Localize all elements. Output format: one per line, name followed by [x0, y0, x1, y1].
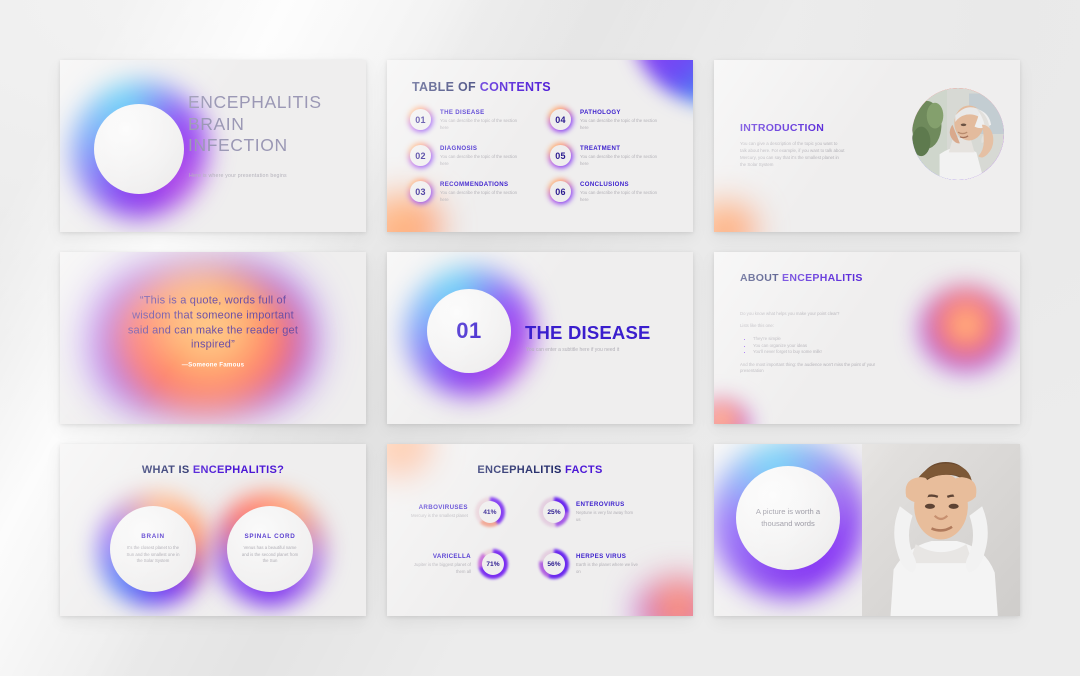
fact-arboviruses-desc: Mercury is the smallest planet [411, 513, 468, 519]
fact-arboviruses-percent: 41% [483, 509, 496, 516]
title-line-1: ENCEPHALITIS [188, 92, 322, 114]
title-slide-subtitle: Here is where your presentation begins [189, 173, 287, 179]
elderly-man-photo-illustration [912, 88, 1004, 180]
title-line-3: INFECTION [188, 135, 322, 157]
fact-varicella-percent: 71% [486, 561, 499, 568]
about-heading-part1: ABOUT [740, 272, 782, 284]
fact-enterovirus[interactable]: 25% ENTEROVIRUS Neptune is very far away… [539, 497, 638, 527]
toc-heading-part1: TABLE OF [412, 80, 480, 94]
card-brain-title: BRAIN [141, 533, 164, 540]
toc-heading: TABLE OF CONTENTS [412, 80, 551, 94]
toc-number-05: 05 [555, 151, 565, 161]
facts-heading-part1: ENCEPHALITIS [477, 464, 565, 476]
introduction-photo-circle [912, 88, 1004, 180]
toc-number-badge-02: 02 [408, 143, 433, 168]
toc-heading-part2: CONTENTS [480, 80, 551, 94]
introduction-body: You can give a description of the topic … [740, 140, 845, 169]
title-line-2: BRAIN [188, 114, 322, 136]
toc-desc-06: You can describe the topic of the sectio… [580, 190, 658, 203]
decor-blob-warm-bottomleft [714, 202, 760, 232]
toc-item-06[interactable]: 06 CONCLUSIONSYou can describe the topic… [548, 179, 674, 204]
slide-table-of-contents[interactable]: TABLE OF CONTENTS 01 THE DISEASEYou can … [387, 60, 693, 232]
man-headache-photo-illustration [862, 444, 1020, 616]
slide-introduction[interactable]: INTRODUCTION You can give a description … [714, 60, 1020, 232]
slide-what-is-encephalitis[interactable]: WHAT IS ENCEPHALITIS? BRAIN It's the clo… [60, 444, 366, 616]
about-bullet-3: You'll never forget to buy some milk! [753, 349, 892, 356]
section-heading: THE DISEASE [525, 322, 651, 344]
toc-number-badge-04: 04 [548, 107, 573, 132]
toc-number-badge-06: 06 [548, 179, 573, 204]
toc-desc-04: You can describe the topic of the sectio… [580, 118, 658, 131]
toc-number-badge-05: 05 [548, 143, 573, 168]
toc-desc-03: You can describe the topic of the sectio… [440, 190, 518, 203]
card-spinal-cord-title: SPINAL CORD [245, 533, 296, 540]
facts-blob-bottomright [637, 578, 693, 616]
card-spinal-cord[interactable]: SPINAL CORD Venus has a beautiful name a… [227, 506, 313, 592]
about-heading: ABOUT ENCEPHALITIS [740, 272, 863, 284]
toc-desc-05: You can describe the topic of the sectio… [580, 154, 658, 167]
slide-quote[interactable]: “This is a quote, words full of wisdom t… [60, 252, 366, 424]
slide-about-encephalitis[interactable]: ABOUT ENCEPHALITIS Do you know what help… [714, 252, 1020, 424]
toc-number-03: 03 [415, 187, 425, 197]
slide-grid: ENCEPHALITIS BRAIN INFECTION Here is whe… [60, 60, 1020, 620]
toc-label-02: DIAGNOSIS [440, 145, 518, 152]
toc-number-01: 01 [415, 115, 425, 125]
what-is-heading-part1: WHAT IS [142, 464, 193, 476]
toc-label-01: THE DISEASE [440, 109, 518, 116]
fact-herpes-virus[interactable]: 56% HERPES VIRUS Earth is the planet whe… [539, 549, 638, 579]
about-intro: Do you know what helps you make your poi… [740, 311, 892, 317]
quote-text: “This is a quote, words full of wisdom t… [122, 294, 304, 353]
toc-label-06: CONCLUSIONS [580, 181, 658, 188]
fact-varicella[interactable]: VARICELLA Jupiter is the biggest planet … [411, 549, 508, 579]
about-heading-part2: ENCEPHALITIS [782, 272, 863, 284]
about-bullet-2: You can organize your ideas [753, 343, 892, 350]
facts-heading-part2: FACTS [565, 464, 603, 476]
toc-label-04: PATHOLOGY [580, 109, 658, 116]
toc-number-badge-01: 01 [408, 107, 433, 132]
fact-enterovirus-donut: 25% [539, 497, 569, 527]
toc-item-04[interactable]: 04 PATHOLOGYYou can describe the topic o… [548, 107, 674, 132]
slide-section-divider[interactable]: 01 THE DISEASE You can enter a subtitle … [387, 252, 693, 424]
about-body: Do you know what helps you make your poi… [740, 311, 892, 381]
section-number: 01 [456, 318, 481, 344]
slide-title[interactable]: ENCEPHALITIS BRAIN INFECTION Here is whe… [60, 60, 366, 232]
title-circle [94, 104, 184, 194]
card-brain-desc: It's the closest planet to the Sun and t… [124, 545, 182, 566]
fact-enterovirus-percent: 25% [547, 509, 560, 516]
title-slide-heading: ENCEPHALITIS BRAIN INFECTION [188, 92, 322, 157]
about-bullet-1: They're simple [753, 336, 892, 343]
toc-number-06: 06 [555, 187, 565, 197]
title-circle-disc [94, 104, 184, 194]
facts-heading: ENCEPHALITIS FACTS [387, 464, 693, 476]
picture-caption: A picture is worth a thousand words [754, 506, 822, 530]
section-subtitle: You can enter a subtitle here if you nee… [526, 347, 619, 353]
fact-varicella-desc: Jupiter is the biggest planet of them al… [411, 562, 471, 575]
card-spinal-cord-desc: Venus has a beautiful name and is the se… [241, 545, 299, 566]
fact-herpes-virus-percent: 56% [547, 561, 560, 568]
about-blob-bottomleft [714, 398, 750, 424]
picture-slide-photo [862, 444, 1020, 616]
slide-picture[interactable]: A picture is worth a thousand words [714, 444, 1020, 616]
about-outro: And the most important thing: the audien… [740, 362, 892, 375]
toc-desc-02: You can describe the topic of the sectio… [440, 154, 518, 167]
fact-enterovirus-label: ENTEROVIRUS [576, 501, 638, 508]
what-is-heading: WHAT IS ENCEPHALITIS? [60, 464, 366, 476]
toc-number-02: 02 [415, 151, 425, 161]
toc-list: 01 THE DISEASEYou can describe the topic… [408, 107, 674, 204]
toc-item-05[interactable]: 05 TREATMENTYou can describe the topic o… [548, 143, 674, 168]
quote-block: “This is a quote, words full of wisdom t… [122, 294, 304, 369]
toc-item-02[interactable]: 02 DIAGNOSISYou can describe the topic o… [408, 143, 534, 168]
fact-herpes-virus-desc: Earth is the planet where we live on [576, 562, 638, 575]
introduction-photo [912, 88, 1004, 180]
fact-enterovirus-desc: Neptune is very far away from us [576, 510, 638, 523]
slide-encephalitis-facts[interactable]: ENCEPHALITIS FACTS ARBOVIRUSES Mercury i… [387, 444, 693, 616]
fact-varicella-label: VARICELLA [411, 553, 471, 560]
fact-arboviruses-donut: 41% [475, 497, 505, 527]
toc-item-01[interactable]: 01 THE DISEASEYou can describe the topic… [408, 107, 534, 132]
introduction-heading: INTRODUCTION [740, 122, 824, 134]
section-number-circle: 01 [427, 289, 511, 373]
fact-herpes-virus-donut: 56% [539, 549, 569, 579]
about-blob-right [920, 286, 1012, 372]
fact-herpes-virus-label: HERPES VIRUS [576, 553, 638, 560]
toc-number-badge-03: 03 [408, 179, 433, 204]
fact-varicella-donut: 71% [478, 549, 508, 579]
what-is-heading-part2: ENCEPHALITIS? [193, 464, 284, 476]
about-lead: Lists like this one: [740, 323, 892, 329]
toc-desc-01: You can describe the topic of the sectio… [440, 118, 518, 131]
decor-blob-purple-topright [633, 60, 693, 106]
quote-attribution: —Someone Famous [122, 362, 304, 369]
toc-item-03[interactable]: 03 RECOMMENDATIONSYou can describe the t… [408, 179, 534, 204]
fact-arboviruses[interactable]: ARBOVIRUSES Mercury is the smallest plan… [411, 497, 505, 527]
toc-number-04: 04 [555, 115, 565, 125]
picture-caption-circle: A picture is worth a thousand words [736, 466, 840, 570]
card-brain[interactable]: BRAIN It's the closest planet to the Sun… [110, 506, 196, 592]
fact-arboviruses-label: ARBOVIRUSES [411, 504, 468, 511]
toc-label-03: RECOMMENDATIONS [440, 181, 518, 188]
toc-label-05: TREATMENT [580, 145, 658, 152]
about-bullet-list: They're simple You can organize your ide… [740, 336, 892, 356]
